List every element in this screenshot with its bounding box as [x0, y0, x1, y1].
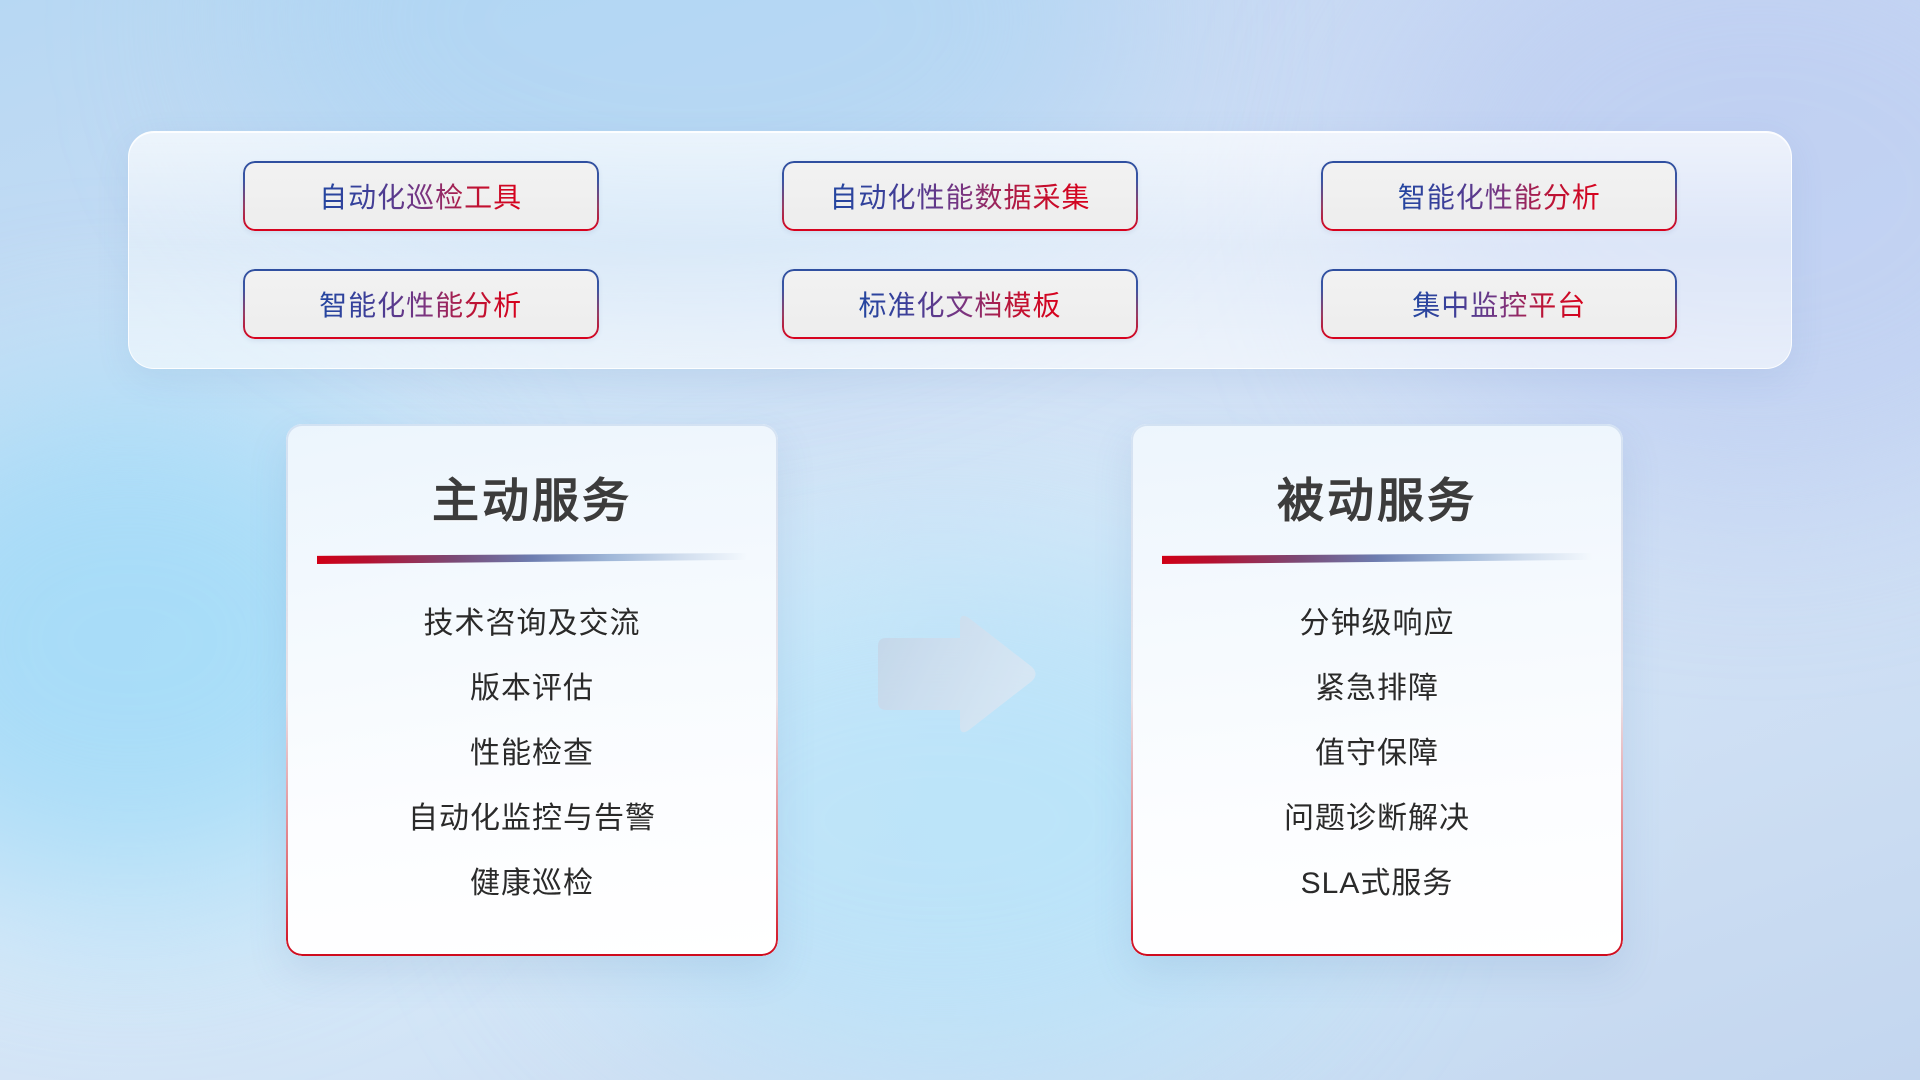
capability-tag-automated-inspection-tool[interactable]: 自动化巡检工具 — [243, 161, 599, 231]
capability-tag-automated-performance-data-collection[interactable]: 自动化性能数据采集 — [782, 161, 1138, 231]
capability-tag-standardized-document-template[interactable]: 标准化文档模板 — [782, 269, 1138, 339]
list-item: 版本评估 — [470, 663, 594, 707]
capability-tag-centralized-monitoring-platform[interactable]: 集中监控平台 — [1321, 269, 1677, 339]
capability-tag-label: 智能化性能分析 — [1398, 176, 1601, 216]
capability-tag-label: 自动化性能数据采集 — [829, 176, 1090, 216]
list-item: SLA式服务 — [1301, 858, 1454, 902]
capability-tag-label: 智能化性能分析 — [319, 284, 522, 324]
diagram-canvas: 自动化巡检工具 自动化性能数据采集 智能化性能分析 智能化性能分析 标准化文档模… — [0, 0, 1920, 1080]
list-item: 性能检查 — [470, 728, 594, 772]
list-item: 健康巡检 — [470, 858, 594, 902]
arrow-right-icon — [872, 612, 1038, 736]
service-card-reactive[interactable]: 被动服务 分钟级响应 紧急排障 值守保障 问题诊断解决 SLA式服务 — [1131, 424, 1623, 956]
list-item: 紧急排障 — [1315, 663, 1439, 707]
card-divider — [317, 553, 747, 564]
card-divider-bar — [1162, 553, 1592, 564]
capability-tag-label: 自动化巡检工具 — [319, 176, 522, 216]
service-item-list: 技术咨询及交流 版本评估 性能检查 自动化监控与告警 健康巡检 — [286, 564, 778, 902]
list-item: 值守保障 — [1315, 728, 1439, 772]
card-divider-bar — [317, 553, 747, 564]
card-divider — [1162, 553, 1592, 564]
service-card-title: 被动服务 — [1131, 424, 1623, 531]
capability-tag-label: 标准化文档模板 — [858, 284, 1061, 324]
capability-tag-intelligent-performance-analysis-2[interactable]: 智能化性能分析 — [243, 269, 599, 339]
service-card-proactive[interactable]: 主动服务 技术咨询及交流 版本评估 性能检查 自动化监控与告警 健康巡检 — [286, 424, 778, 956]
list-item: 技术咨询及交流 — [424, 598, 641, 642]
service-item-list: 分钟级响应 紧急排障 值守保障 问题诊断解决 SLA式服务 — [1131, 564, 1623, 902]
list-item: 分钟级响应 — [1300, 598, 1455, 642]
capability-tag-intelligent-performance-analysis-1[interactable]: 智能化性能分析 — [1321, 161, 1677, 231]
list-item: 问题诊断解决 — [1284, 793, 1470, 837]
capability-tag-label: 集中监控平台 — [1412, 284, 1586, 324]
list-item: 自动化监控与告警 — [408, 793, 656, 837]
service-card-title: 主动服务 — [286, 424, 778, 531]
capability-panel: 自动化巡检工具 自动化性能数据采集 智能化性能分析 智能化性能分析 标准化文档模… — [128, 131, 1792, 369]
